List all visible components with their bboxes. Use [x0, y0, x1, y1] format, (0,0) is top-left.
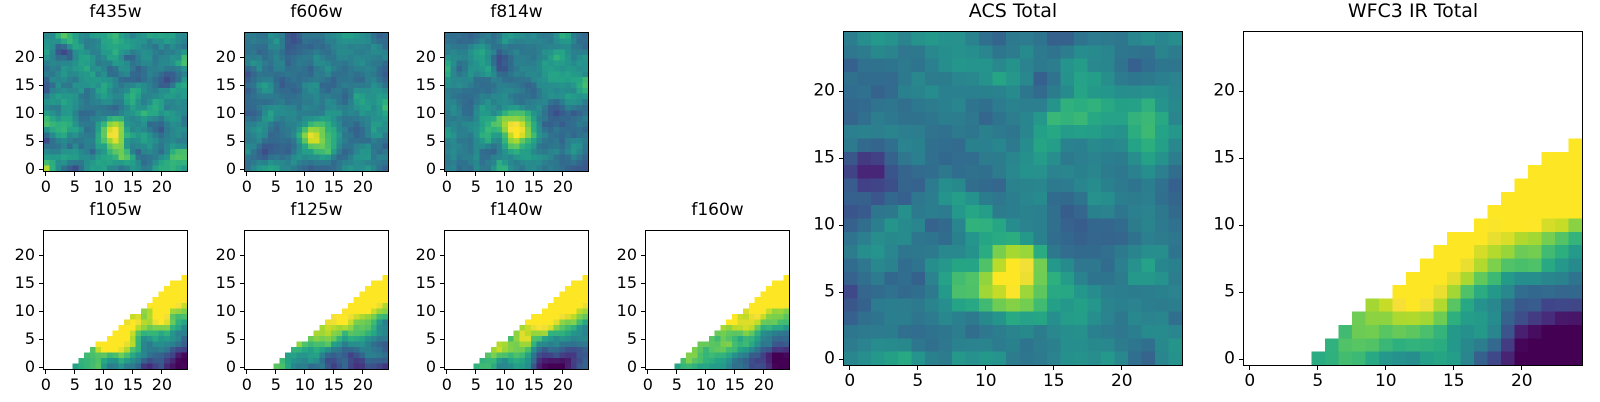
- heatmap-f160w: [646, 231, 789, 369]
- ytick-f125w-5: [240, 339, 244, 340]
- yticklabel-f140w-15: 15: [416, 275, 436, 291]
- xtick-wfc3-ir-total-20: [1521, 366, 1522, 370]
- xticklabel-acs-total-0: 0: [844, 373, 855, 390]
- xticklabel-f125w-15: 15: [324, 377, 344, 393]
- ytick-wfc3-ir-total-5: [1239, 292, 1243, 293]
- yticklabel-f435w-20: 20: [15, 49, 35, 65]
- yticklabel-f125w-0: 0: [226, 359, 236, 375]
- xticklabel-f435w-5: 5: [70, 179, 80, 195]
- xtick-f606w-15: [333, 172, 334, 176]
- yticklabel-wfc3-ir-total-20: 20: [1213, 83, 1235, 100]
- ytick-f105w-15: [39, 283, 43, 284]
- ytick-f160w-20: [641, 255, 645, 256]
- heatmap-f105w: [44, 231, 187, 369]
- panel-f814w: f814w0510152005101520: [402, 2, 607, 204]
- xticklabel-f814w-0: 0: [442, 179, 452, 195]
- xticklabel-f125w-10: 10: [295, 377, 315, 393]
- yticklabel-f606w-0: 0: [226, 161, 236, 177]
- xtick-f435w-15: [132, 172, 133, 176]
- xtick-f140w-20: [562, 370, 563, 374]
- yticklabel-acs-total-20: 20: [813, 83, 835, 100]
- ytick-f140w-15: [440, 283, 444, 284]
- xticklabel-acs-total-5: 5: [912, 373, 923, 390]
- ytick-acs-total-0: [839, 359, 843, 360]
- xtick-f105w-20: [161, 370, 162, 374]
- yticklabel-f814w-10: 10: [416, 105, 436, 121]
- xticklabel-f140w-20: 20: [553, 377, 573, 393]
- xtick-f435w-5: [74, 172, 75, 176]
- xtick-f160w-0: [647, 370, 648, 374]
- yticklabel-f606w-5: 5: [226, 133, 236, 149]
- yticklabel-f105w-0: 0: [25, 359, 35, 375]
- xticklabel-f606w-0: 0: [242, 179, 252, 195]
- xtick-wfc3-ir-total-15: [1453, 366, 1454, 370]
- xticklabel-f435w-20: 20: [152, 179, 172, 195]
- ytick-f814w-10: [440, 113, 444, 114]
- xtick-f814w-10: [504, 172, 505, 176]
- heatmap-f435w: [44, 33, 187, 171]
- xtick-wfc3-ir-total-0: [1249, 366, 1250, 370]
- xticklabel-f160w-15: 15: [725, 377, 745, 393]
- ytick-f814w-0: [440, 169, 444, 170]
- yticklabel-f160w-20: 20: [617, 247, 637, 263]
- xtick-f105w-15: [132, 370, 133, 374]
- yticklabel-f160w-10: 10: [617, 303, 637, 319]
- yticklabel-f125w-15: 15: [216, 275, 236, 291]
- panel-title-wfc3-ir-total: WFC3 IR Total: [1243, 2, 1583, 21]
- xticklabel-f125w-20: 20: [353, 377, 373, 393]
- ytick-f125w-0: [240, 367, 244, 368]
- ytick-wfc3-ir-total-0: [1239, 359, 1243, 360]
- xtick-wfc3-ir-total-5: [1317, 366, 1318, 370]
- xtick-f125w-10: [304, 370, 305, 374]
- yticklabel-f105w-15: 15: [15, 275, 35, 291]
- xticklabel-f105w-15: 15: [123, 377, 143, 393]
- xtick-f814w-20: [562, 172, 563, 176]
- panel-f606w: f606w0510152005101520: [202, 2, 407, 204]
- xtick-f814w-5: [475, 172, 476, 176]
- xticklabel-f160w-0: 0: [643, 377, 653, 393]
- xtick-f606w-5: [275, 172, 276, 176]
- ytick-acs-total-5: [839, 292, 843, 293]
- xticklabel-f125w-5: 5: [271, 377, 281, 393]
- ytick-f140w-10: [440, 311, 444, 312]
- axes-f606w: [244, 32, 389, 172]
- xticklabel-f105w-5: 5: [70, 377, 80, 393]
- yticklabel-f606w-10: 10: [216, 105, 236, 121]
- yticklabel-f140w-0: 0: [426, 359, 436, 375]
- ytick-f125w-10: [240, 311, 244, 312]
- xtick-f814w-15: [533, 172, 534, 176]
- ytick-f435w-10: [39, 113, 43, 114]
- yticklabel-f435w-10: 10: [15, 105, 35, 121]
- yticklabel-f435w-15: 15: [15, 77, 35, 93]
- xtick-f435w-20: [161, 172, 162, 176]
- yticklabel-wfc3-ir-total-15: 15: [1213, 150, 1235, 167]
- ytick-acs-total-10: [839, 225, 843, 226]
- figure-canvas: f435w0510152005101520f606w05101520051015…: [0, 0, 1600, 400]
- yticklabel-acs-total-15: 15: [813, 150, 835, 167]
- ytick-f814w-20: [440, 57, 444, 58]
- ytick-f606w-5: [240, 141, 244, 142]
- ytick-f814w-5: [440, 141, 444, 142]
- xticklabel-f105w-0: 0: [41, 377, 51, 393]
- ytick-f105w-20: [39, 255, 43, 256]
- ytick-f814w-15: [440, 85, 444, 86]
- yticklabel-wfc3-ir-total-0: 0: [1224, 351, 1235, 368]
- yticklabel-wfc3-ir-total-10: 10: [1213, 217, 1235, 234]
- yticklabel-f814w-20: 20: [416, 49, 436, 65]
- ytick-acs-total-15: [839, 158, 843, 159]
- yticklabel-f140w-20: 20: [416, 247, 436, 263]
- xtick-f435w-0: [45, 172, 46, 176]
- yticklabel-f160w-0: 0: [627, 359, 637, 375]
- ytick-wfc3-ir-total-20: [1239, 91, 1243, 92]
- yticklabel-f435w-5: 5: [25, 133, 35, 149]
- xtick-f814w-0: [446, 172, 447, 176]
- xtick-acs-total-5: [917, 366, 918, 370]
- xtick-f160w-10: [705, 370, 706, 374]
- yticklabel-f125w-5: 5: [226, 331, 236, 347]
- heatmap-f125w: [245, 231, 388, 369]
- ytick-f606w-10: [240, 113, 244, 114]
- panel-f160w: f160w0510152005101520: [603, 200, 808, 402]
- axes-acs-total: [843, 31, 1183, 366]
- ytick-f160w-15: [641, 283, 645, 284]
- xticklabel-f140w-15: 15: [524, 377, 544, 393]
- axes-f435w: [43, 32, 188, 172]
- yticklabel-f105w-10: 10: [15, 303, 35, 319]
- xticklabel-f140w-5: 5: [471, 377, 481, 393]
- yticklabel-f125w-20: 20: [216, 247, 236, 263]
- xtick-f606w-0: [246, 172, 247, 176]
- yticklabel-f160w-5: 5: [627, 331, 637, 347]
- xticklabel-f606w-5: 5: [271, 179, 281, 195]
- panel-acs-total: ACS Total0510152005101520: [801, 1, 1201, 398]
- xtick-f125w-20: [362, 370, 363, 374]
- xticklabel-f606w-20: 20: [353, 179, 373, 195]
- yticklabel-f160w-15: 15: [617, 275, 637, 291]
- ytick-acs-total-20: [839, 91, 843, 92]
- xticklabel-wfc3-ir-total-0: 0: [1244, 373, 1255, 390]
- yticklabel-acs-total-5: 5: [824, 284, 835, 301]
- heatmap-f606w: [245, 33, 388, 171]
- xticklabel-f105w-20: 20: [152, 377, 172, 393]
- ytick-f435w-0: [39, 169, 43, 170]
- xticklabel-f160w-10: 10: [696, 377, 716, 393]
- xtick-f125w-5: [275, 370, 276, 374]
- ytick-f125w-15: [240, 283, 244, 284]
- xticklabel-acs-total-20: 20: [1111, 373, 1133, 390]
- panel-title-f606w: f606w: [244, 4, 389, 21]
- xticklabel-f140w-0: 0: [442, 377, 452, 393]
- xticklabel-f435w-10: 10: [94, 179, 114, 195]
- panel-title-f814w: f814w: [444, 4, 589, 21]
- heatmap-f140w: [445, 231, 588, 369]
- xticklabel-f125w-0: 0: [242, 377, 252, 393]
- xtick-f140w-10: [504, 370, 505, 374]
- yticklabel-f140w-10: 10: [416, 303, 436, 319]
- xtick-f105w-0: [45, 370, 46, 374]
- yticklabel-f814w-5: 5: [426, 133, 436, 149]
- xtick-f105w-10: [103, 370, 104, 374]
- xticklabel-f814w-5: 5: [471, 179, 481, 195]
- yticklabel-wfc3-ir-total-5: 5: [1224, 284, 1235, 301]
- ytick-f125w-20: [240, 255, 244, 256]
- ytick-f105w-5: [39, 339, 43, 340]
- heatmap-wfc3-ir-total: [1244, 32, 1582, 365]
- xticklabel-f606w-10: 10: [295, 179, 315, 195]
- xtick-acs-total-0: [849, 366, 850, 370]
- xtick-f125w-0: [246, 370, 247, 374]
- yticklabel-f435w-0: 0: [25, 161, 35, 177]
- xticklabel-f160w-5: 5: [672, 377, 682, 393]
- yticklabel-f105w-20: 20: [15, 247, 35, 263]
- xtick-f140w-15: [533, 370, 534, 374]
- yticklabel-f105w-5: 5: [25, 331, 35, 347]
- xtick-f160w-20: [763, 370, 764, 374]
- xticklabel-f814w-20: 20: [553, 179, 573, 195]
- xticklabel-wfc3-ir-total-20: 20: [1511, 373, 1533, 390]
- ytick-f140w-5: [440, 339, 444, 340]
- xticklabel-f140w-10: 10: [495, 377, 515, 393]
- panel-f435w: f435w0510152005101520: [1, 2, 206, 204]
- yticklabel-f140w-5: 5: [426, 331, 436, 347]
- panel-title-f140w: f140w: [444, 202, 589, 219]
- ytick-f105w-10: [39, 311, 43, 312]
- yticklabel-f125w-10: 10: [216, 303, 236, 319]
- xticklabel-wfc3-ir-total-5: 5: [1312, 373, 1323, 390]
- ytick-f606w-15: [240, 85, 244, 86]
- xtick-f435w-10: [103, 172, 104, 176]
- panel-f125w: f125w0510152005101520: [202, 200, 407, 402]
- axes-f125w: [244, 230, 389, 370]
- xtick-f105w-5: [74, 370, 75, 374]
- ytick-f435w-20: [39, 57, 43, 58]
- ytick-wfc3-ir-total-15: [1239, 158, 1243, 159]
- panel-f105w: f105w0510152005101520: [1, 200, 206, 402]
- panel-title-f160w: f160w: [645, 202, 790, 219]
- panel-f140w: f140w0510152005101520: [402, 200, 607, 402]
- xtick-f125w-15: [333, 370, 334, 374]
- xtick-acs-total-15: [1053, 366, 1054, 370]
- yticklabel-f606w-15: 15: [216, 77, 236, 93]
- xticklabel-f160w-20: 20: [754, 377, 774, 393]
- ytick-f160w-0: [641, 367, 645, 368]
- axes-f105w: [43, 230, 188, 370]
- xticklabel-f435w-0: 0: [41, 179, 51, 195]
- ytick-f140w-0: [440, 367, 444, 368]
- yticklabel-acs-total-10: 10: [813, 217, 835, 234]
- xticklabel-acs-total-15: 15: [1043, 373, 1065, 390]
- ytick-f606w-0: [240, 169, 244, 170]
- xticklabel-wfc3-ir-total-15: 15: [1443, 373, 1465, 390]
- axes-wfc3-ir-total: [1243, 31, 1583, 366]
- panel-title-acs-total: ACS Total: [843, 2, 1183, 21]
- xtick-f160w-5: [676, 370, 677, 374]
- xtick-f160w-15: [734, 370, 735, 374]
- heatmap-f814w: [445, 33, 588, 171]
- xtick-f606w-10: [304, 172, 305, 176]
- panel-title-f125w: f125w: [244, 202, 389, 219]
- panel-title-f105w: f105w: [43, 202, 188, 219]
- xticklabel-f814w-10: 10: [495, 179, 515, 195]
- panel-wfc3-ir-total: WFC3 IR Total0510152005101520: [1201, 1, 1600, 398]
- xtick-acs-total-10: [985, 366, 986, 370]
- ytick-wfc3-ir-total-10: [1239, 225, 1243, 226]
- ytick-f435w-15: [39, 85, 43, 86]
- axes-f140w: [444, 230, 589, 370]
- xtick-f606w-20: [362, 172, 363, 176]
- xticklabel-f814w-15: 15: [524, 179, 544, 195]
- panel-title-f435w: f435w: [43, 4, 188, 21]
- xticklabel-wfc3-ir-total-10: 10: [1375, 373, 1397, 390]
- xtick-f140w-5: [475, 370, 476, 374]
- yticklabel-acs-total-0: 0: [824, 351, 835, 368]
- axes-f160w: [645, 230, 790, 370]
- xtick-acs-total-20: [1121, 366, 1122, 370]
- yticklabel-f814w-0: 0: [426, 161, 436, 177]
- xtick-f140w-0: [446, 370, 447, 374]
- xticklabel-f435w-15: 15: [123, 179, 143, 195]
- ytick-f435w-5: [39, 141, 43, 142]
- heatmap-acs-total: [844, 32, 1182, 365]
- ytick-f160w-10: [641, 311, 645, 312]
- xtick-wfc3-ir-total-10: [1385, 366, 1386, 370]
- ytick-f105w-0: [39, 367, 43, 368]
- axes-f814w: [444, 32, 589, 172]
- ytick-f606w-20: [240, 57, 244, 58]
- xticklabel-acs-total-10: 10: [975, 373, 997, 390]
- yticklabel-f814w-15: 15: [416, 77, 436, 93]
- ytick-f140w-20: [440, 255, 444, 256]
- ytick-f160w-5: [641, 339, 645, 340]
- yticklabel-f606w-20: 20: [216, 49, 236, 65]
- xticklabel-f606w-15: 15: [324, 179, 344, 195]
- xticklabel-f105w-10: 10: [94, 377, 114, 393]
